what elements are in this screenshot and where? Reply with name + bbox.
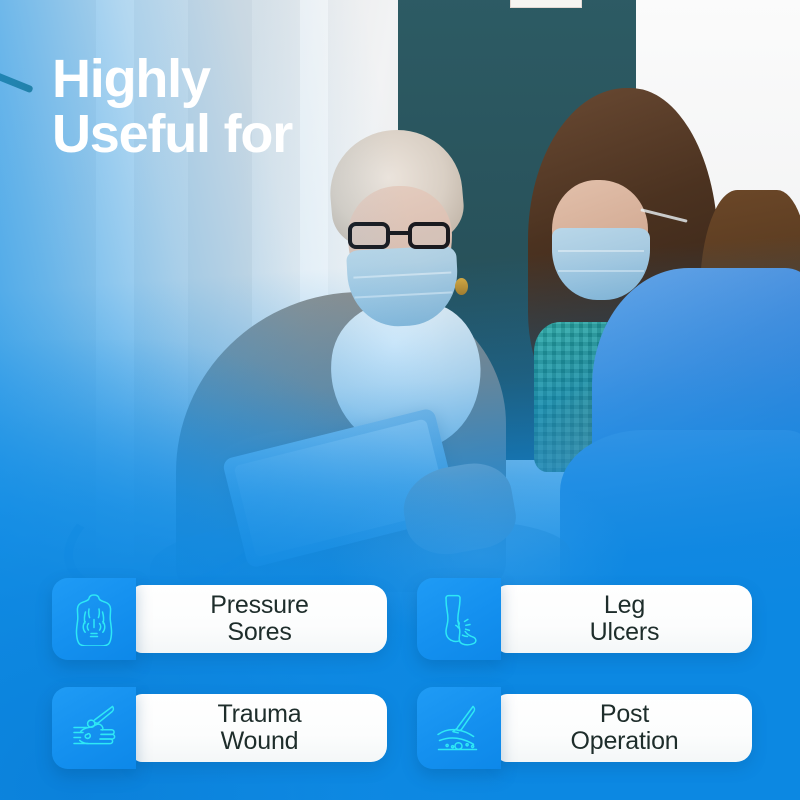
card-title-line-1: Post: [571, 701, 679, 728]
title-line-1: Highly: [52, 52, 482, 107]
card-title-line-2: Ulcers: [590, 619, 660, 646]
card-title-line-1: Pressure: [210, 592, 308, 619]
card-label-leg-ulcers: Leg Ulcers: [497, 585, 752, 653]
card-title-line-2: Operation: [571, 728, 679, 755]
leg-ulcer-icon: [417, 578, 501, 660]
back-pressure-sore-icon: [52, 578, 136, 660]
card-title-line-1: Leg: [590, 592, 660, 619]
poster-canvas: Highly Useful for: [0, 0, 800, 800]
card-leg-ulcers[interactable]: Leg Ulcers: [417, 578, 752, 660]
card-title-line-2: Wound: [217, 728, 301, 755]
card-label-trauma-wound: Trauma Wound: [132, 694, 387, 762]
card-label-post-operation: Post Operation: [497, 694, 752, 762]
card-title-line-2: Sores: [210, 619, 308, 646]
page-title: Highly Useful for: [52, 52, 482, 162]
card-title-line-1: Trauma: [217, 701, 301, 728]
card-row-1: Pressure Sores: [52, 578, 752, 660]
scalpel-incision-icon: [417, 687, 501, 769]
title-line-2: Useful for: [52, 107, 482, 162]
trauma-wound-hand-icon: [52, 687, 136, 769]
card-post-operation[interactable]: Post Operation: [417, 687, 752, 769]
card-trauma-wound[interactable]: Trauma Wound: [52, 687, 387, 769]
card-row-2: Trauma Wound: [52, 687, 752, 769]
use-case-card-grid: Pressure Sores: [52, 578, 752, 769]
card-label-pressure-sores: Pressure Sores: [132, 585, 387, 653]
card-pressure-sores[interactable]: Pressure Sores: [52, 578, 387, 660]
